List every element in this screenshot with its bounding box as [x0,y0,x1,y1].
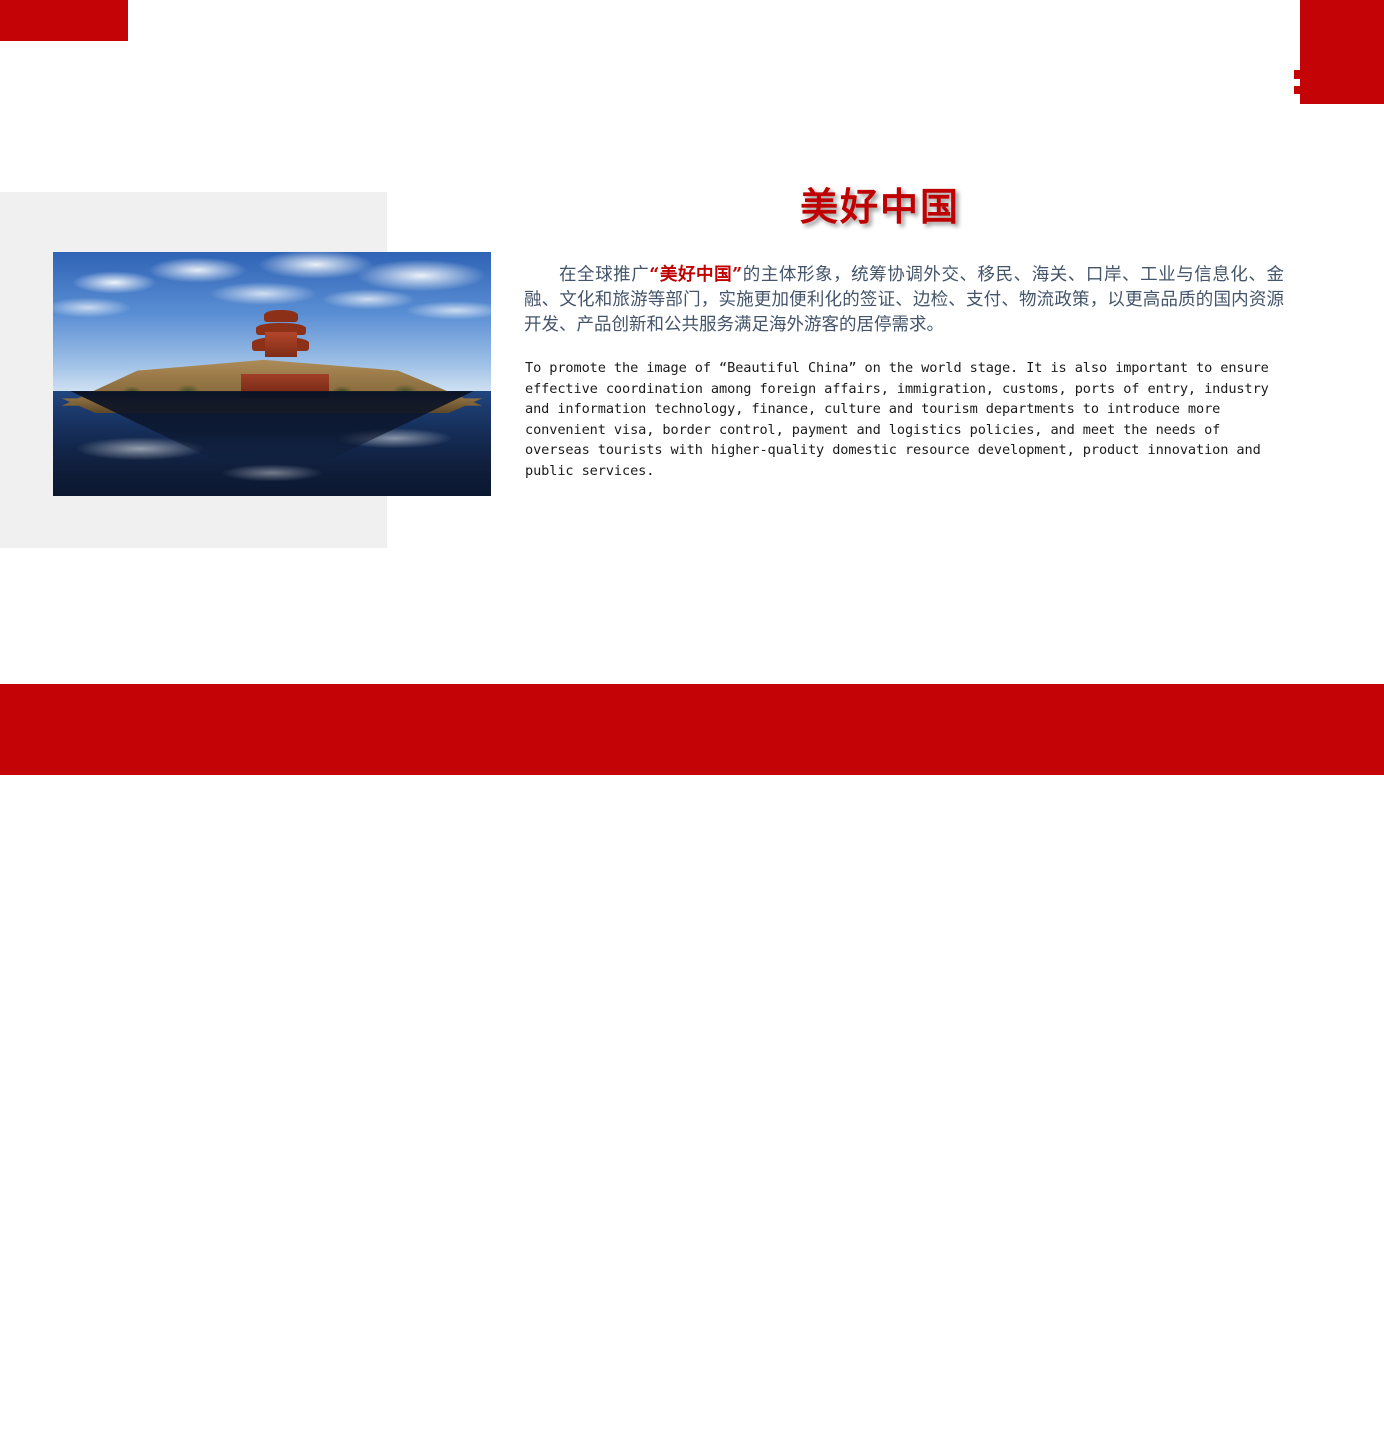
logo-title-en: China Tourism Academy (Data Center of th… [1134,1419,1384,1429]
china-tourism-academy-logo-icon [1072,1394,1128,1436]
photo-corner-tower [252,303,309,369]
photo-tower-body [265,332,297,357]
footer-bar: 中国旅游研究院（文化和旅游部数据中心） China Tourism Academ… [0,684,1384,775]
chinese-paragraph-highlight: “美好中国” [649,265,742,285]
english-paragraph: To promote the image of “Beautiful China… [525,358,1285,482]
organization-logo: 中国旅游研究院（文化和旅游部数据中心） China Tourism Academ… [1072,1393,1384,1437]
page-title: 美好中国 [700,176,1060,231]
top-right-red-block [1300,0,1384,104]
forbidden-city-photo [53,252,491,496]
top-left-red-block [0,0,128,41]
logo-title-cn: 中国旅游研究院（文化和旅游部数据中心） [1134,1401,1384,1417]
top-right-red-tab-lower [1294,86,1301,94]
logo-text-block: 中国旅游研究院（文化和旅游部数据中心） China Tourism Academ… [1134,1401,1384,1429]
chinese-paragraph-before: 在全球推广 [559,265,649,285]
chinese-paragraph: 在全球推广“美好中国”的主体形象，统筹协调外交、移民、海关、口岸、工业与信息化、… [524,263,1284,338]
photo-tower-roof-top [264,310,298,322]
top-right-red-tab-upper [1294,70,1301,79]
